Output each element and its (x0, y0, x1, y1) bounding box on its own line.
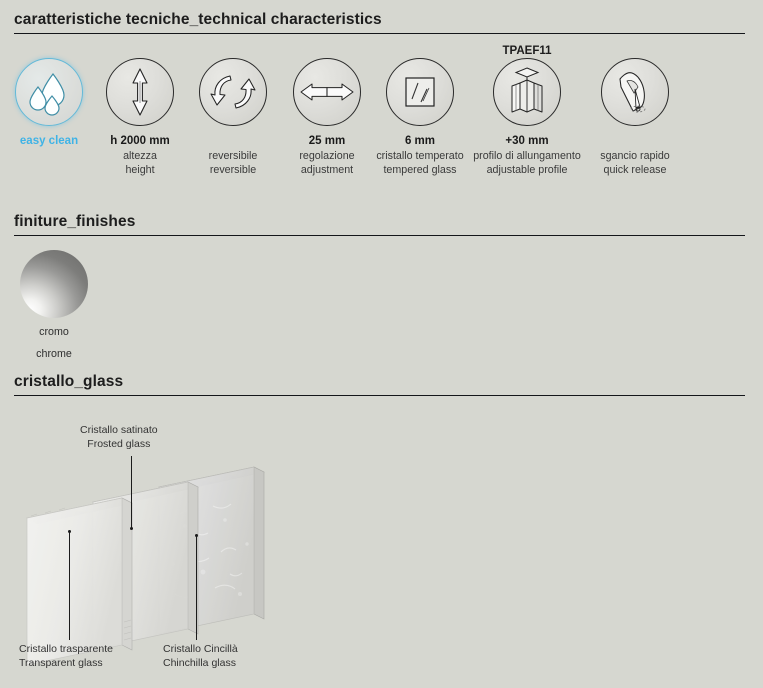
section-divider-finishes (14, 235, 745, 236)
chrome-sphere-swatch (20, 250, 88, 318)
glass-label-transparent-it: Cristallo trasparente (19, 643, 113, 657)
section-title-glass: cristallo_glass (14, 372, 747, 395)
section-header-glass: cristallo_glass (14, 372, 747, 396)
feature-value (560, 134, 710, 150)
glass-label-chinchilla: Cristallo Cincillà Chinchilla glass (163, 643, 238, 670)
hand-quick-release-icon (601, 58, 669, 126)
finish-caption-en: chrome (14, 348, 94, 362)
tempered-glass-pane-icon (386, 58, 454, 126)
glass-label-frosted-en: Frosted glass (80, 438, 158, 452)
feature-icon-row: easy clean h 2000 mm altezza height (0, 44, 763, 174)
glass-label-chinchilla-en: Chinchilla glass (163, 657, 238, 671)
finish-item-chrome: cromo chrome (14, 250, 94, 361)
feature-caption-it: sgancio rapido (560, 150, 710, 164)
section-divider-glass (14, 395, 745, 396)
leader-line-chinchilla (196, 536, 197, 640)
glass-label-frosted-it: Cristallo satinato (80, 424, 158, 438)
glass-label-frosted: Cristallo satinato Frosted glass (80, 424, 158, 451)
feature-icon-wrap (560, 58, 710, 130)
leader-line-transparent (69, 532, 70, 640)
section-title-technical: caratteristiche tecniche_technical chara… (14, 10, 747, 33)
leader-dot-transparent (68, 530, 71, 533)
glass-panels-diagram: Cristallo satinato Frosted glass Cristal… (0, 404, 763, 688)
leader-dot-chinchilla (195, 534, 198, 537)
section-header-technical: caratteristiche tecniche_technical chara… (14, 10, 747, 34)
leader-dot-frosted (130, 527, 133, 530)
leader-line-frosted (131, 456, 132, 529)
glass-label-chinchilla-it: Cristallo Cincillà (163, 643, 238, 657)
finish-caption-it: cromo (14, 326, 94, 340)
feature-supra-label (560, 44, 710, 58)
glass-label-transparent-en: Transparent glass (19, 657, 113, 671)
feature-quick-release: sgancio rapido quick release (560, 44, 710, 177)
glass-panel-transparent (27, 498, 132, 665)
glass-label-transparent: Cristallo trasparente Transparent glass (19, 643, 113, 670)
section-header-finishes: finiture_finishes (14, 212, 747, 236)
section-divider-technical (14, 33, 745, 34)
extension-profile-icon (493, 58, 561, 126)
feature-caption-en: quick release (560, 164, 710, 178)
section-title-finishes: finiture_finishes (14, 212, 747, 235)
